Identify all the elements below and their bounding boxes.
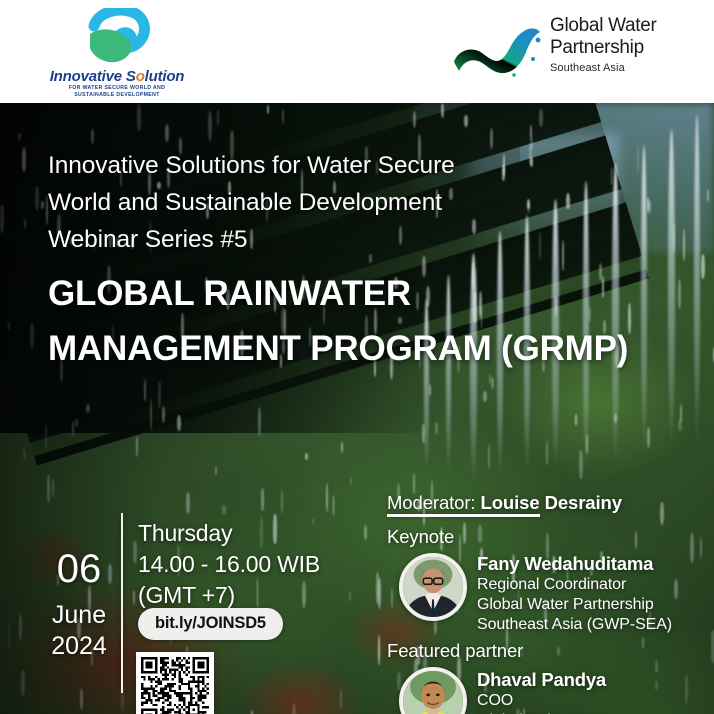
series-title-line1: Innovative Solutions for Water Secure	[48, 147, 488, 184]
is-tagline-line1: FOR WATER SECURE WORLD AND	[34, 85, 200, 92]
gwp-wave-mark-icon	[452, 26, 544, 78]
event-year: 2024	[40, 632, 118, 660]
gwp-line1: Global Water	[550, 15, 665, 37]
poster-content: Innovative Solutions for Water Secure Wo…	[0, 103, 714, 714]
gwp-region-label: Southeast Asia	[550, 61, 665, 76]
moderator-label: Moderator:	[387, 492, 475, 513]
event-day: 06	[40, 547, 118, 591]
moderator-line: Moderator: Louise Desrainy	[387, 492, 622, 514]
event-schedule: Thursday 14.00 - 16.00 WIB (GMT +7)	[138, 518, 320, 611]
page-title: GLOBAL RAINWATER MANAGEMENT PROGRAM (GRM…	[48, 266, 688, 376]
main-title-line1: GLOBAL RAINWATER	[48, 266, 688, 321]
gwp-line2: Partnership	[550, 37, 665, 59]
webinar-poster: Innovative Solution FOR WATER SECURE WOR…	[0, 0, 714, 714]
gwp-wordmark: Global Water Partnership Southeast Asia	[550, 15, 665, 76]
featured-partner-role: COO	[477, 691, 634, 711]
vertical-divider	[121, 513, 123, 693]
event-time: 14.00 - 16.00 WIB	[138, 549, 320, 580]
innovative-solution-mark-icon	[84, 8, 152, 66]
avatar-keynote-speaker	[399, 553, 467, 621]
featured-partner-name: Dhaval Pandya	[477, 668, 634, 691]
series-title: Innovative Solutions for Water Secure Wo…	[48, 147, 488, 258]
avatar-featured-partner	[399, 667, 467, 714]
horizontal-divider	[387, 514, 540, 517]
is-word-accent-o: o	[136, 68, 145, 85]
keynote-speaker-name: Fany Wedahuditama	[477, 552, 672, 575]
main-title-line2: MANAGEMENT PROGRAM (GRMP)	[48, 321, 688, 376]
series-title-line2: World and Sustainable Development	[48, 184, 488, 221]
innovative-solution-logo: Innovative Solution FOR WATER SECURE WOR…	[34, 6, 200, 98]
is-word-part1: Innovative S	[50, 68, 136, 85]
moderator-name: Louise Desrainy	[481, 492, 622, 513]
event-timezone: (GMT +7)	[138, 580, 320, 611]
registration-link-button[interactable]: bit.ly/JOINSD5	[138, 608, 283, 640]
event-month: June	[40, 601, 118, 629]
featured-partner-details: Dhaval Pandya COO Global Rainwater Manag…	[477, 668, 634, 714]
keynote-speaker-org2: Southeast Asia (GWP-SEA)	[477, 615, 672, 635]
keynote-speaker-details: Fany Wedahuditama Regional Coordinator G…	[477, 552, 672, 635]
global-water-partnership-logo: Global Water Partnership Southeast Asia	[452, 14, 662, 88]
series-title-line3: Webinar Series #5	[48, 221, 488, 258]
qr-code[interactable]	[136, 652, 214, 714]
is-tagline-line2: SUSTAINABLE DEVELOPMENT	[34, 92, 200, 99]
event-weekday: Thursday	[138, 518, 320, 549]
keynote-section-label: Keynote	[387, 526, 454, 548]
logo-header-band: Innovative Solution FOR WATER SECURE WOR…	[0, 0, 714, 103]
innovative-solution-wordmark: Innovative Solution	[34, 68, 200, 85]
keynote-speaker-org1: Global Water Partnership	[477, 595, 672, 615]
innovative-solution-tagline: FOR WATER SECURE WORLD AND SUSTAINABLE D…	[34, 85, 200, 99]
featured-partner-section-label: Featured partner	[387, 640, 523, 662]
is-word-part2: lution	[145, 68, 185, 85]
keynote-speaker-role: Regional Coordinator	[477, 575, 672, 595]
